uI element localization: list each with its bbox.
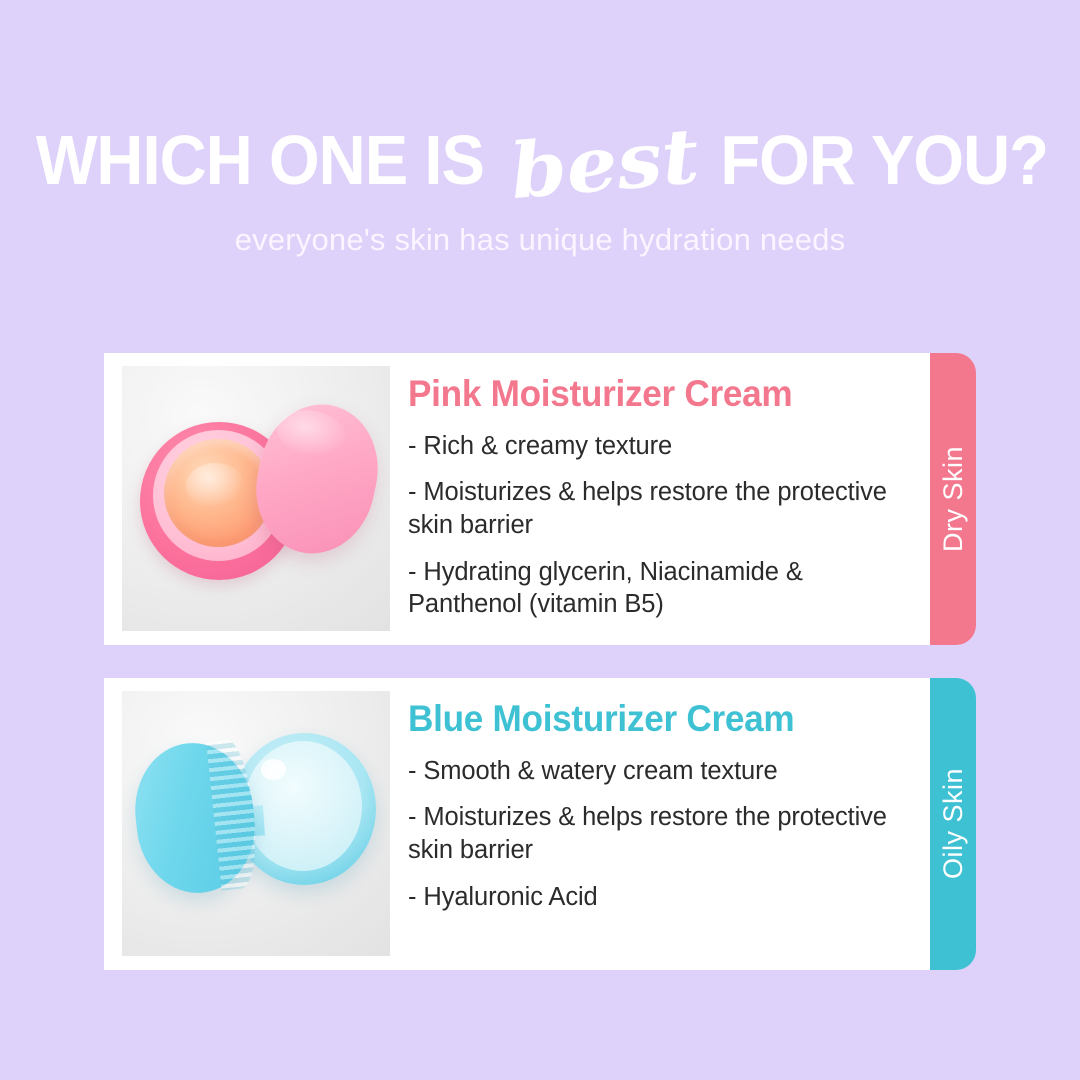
headline-part-2: FOR YOU? <box>721 125 1049 195</box>
page-title: WHICH ONE IS best FOR YOU? <box>0 118 1080 202</box>
product-card-blue[interactable]: Oily Skin Blue Moisturizer Cream - Smoot… <box>104 678 976 970</box>
feature-list-blue: - Smooth & watery cream texture - Moistu… <box>408 755 912 914</box>
product-title-blue: Blue Moisturizer Cream <box>408 700 887 739</box>
skin-type-tab-label: Oily Skin <box>938 768 969 879</box>
header: WHICH ONE IS best FOR YOU? everyone's sk… <box>0 118 1080 258</box>
headline-part-1: WHICH ONE IS <box>36 125 484 195</box>
card-content-pink: Pink Moisturizer Cream - Rich & creamy t… <box>390 353 930 621</box>
list-item: - Smooth & watery cream texture <box>408 755 912 788</box>
skin-type-tab-label: Dry Skin <box>938 446 969 552</box>
list-item: - Rich & creamy texture <box>408 430 912 463</box>
list-item: - Hydrating glycerin, Niacinamide & Pant… <box>408 556 912 621</box>
skin-type-tab-oily: Oily Skin <box>930 678 976 970</box>
list-item: - Moisturizes & helps restore the protec… <box>408 476 912 541</box>
product-card-pink[interactable]: Dry Skin Pink Moisturizer Cream - Rich &… <box>104 353 976 645</box>
card-surface-blue: Blue Moisturizer Cream - Smooth & watery… <box>104 678 930 970</box>
product-title-pink: Pink Moisturizer Cream <box>408 375 887 414</box>
feature-list-pink: - Rich & creamy texture - Moisturizes & … <box>408 430 912 621</box>
list-item: - Moisturizes & helps restore the protec… <box>408 801 912 866</box>
card-surface-pink: Pink Moisturizer Cream - Rich & creamy t… <box>104 353 930 645</box>
product-image-pink <box>122 366 390 631</box>
list-item: - Hyaluronic Acid <box>408 881 912 914</box>
skin-type-tab-dry: Dry Skin <box>930 353 976 645</box>
product-image-blue <box>122 691 390 956</box>
page-subtitle: everyone's skin has unique hydration nee… <box>0 222 1080 258</box>
headline-script-word: best <box>493 117 717 212</box>
card-content-blue: Blue Moisturizer Cream - Smooth & watery… <box>390 678 930 913</box>
